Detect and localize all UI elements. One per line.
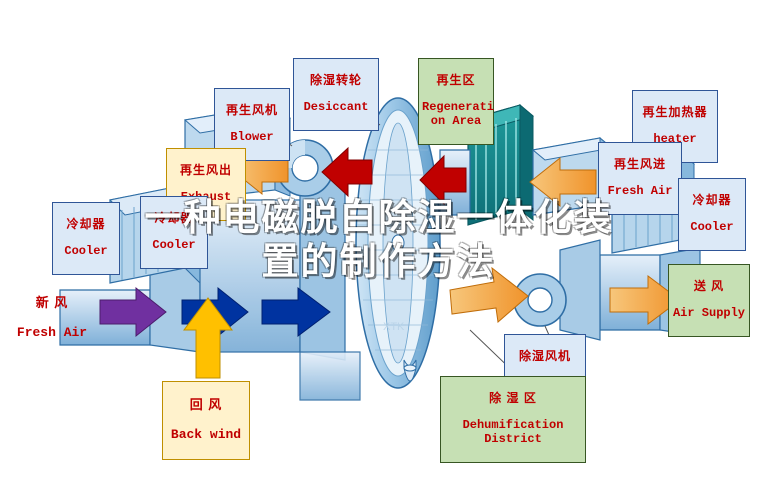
label-back-wind-en: Back wind [166,428,246,443]
label-air-supply-en: Air Supply [672,307,746,321]
label-dehumidification-district: 除 湿 区 Dehumification District [440,376,586,463]
label-cooler-left-en: Cooler [56,245,116,259]
label-regen-exhaust-cn: 再生风出 [170,164,242,178]
label-fresh-air: 新 风 Fresh Air [6,280,98,357]
label-cooler-left-cn: 冷却器 [56,218,116,232]
label-regeneration-area: 再生区 Regenerati on Area [418,58,494,145]
label-regen-blower-cn: 再生风机 [218,104,286,118]
label-cooler-mid-cn: 冷却器 [144,212,204,226]
label-cooler-right-cn: 冷却器 [682,194,742,208]
svg-text:XTK: XTK [383,321,405,333]
label-cooler-mid-en: Cooler [144,239,204,253]
label-desiccant-wheel-cn: 除湿转轮 [297,74,375,88]
label-regen-blower-en: Blower [218,131,286,145]
label-regen-fresh-air: 再生风进 Fresh Air [598,142,682,215]
label-dehum-district-en: Dehumification District [444,419,582,447]
label-cooler-right-en: Cooler [682,221,742,235]
label-cooler-left: 冷却器 Cooler [52,202,120,275]
label-fresh-air-cn: 新 风 [9,296,95,311]
label-back-wind: 回 风 Back wind [162,381,250,460]
label-desiccant-wheel: 除湿转轮 Desiccant [293,58,379,131]
label-regeneration-area-cn: 再生区 [422,74,490,88]
label-cooler-right: 冷却器 Cooler [678,178,746,251]
label-fresh-air-en: Fresh Air [9,326,95,341]
label-back-wind-cn: 回 风 [166,398,246,413]
label-regen-heater-cn: 再生加热器 [636,106,714,120]
label-regeneration-area-en: Regenerati on Area [422,101,490,129]
label-regen-fresh-air-en: Fresh Air [602,185,678,199]
label-dehum-blower-cn: 除湿风机 [508,350,582,364]
diagram-canvas: XTK 除湿转轮 Desiccant 再生区 Regenerati on Are… [0,0,757,488]
label-air-supply: 送 风 Air Supply [668,264,750,337]
label-desiccant-wheel-en: Desiccant [297,101,375,115]
label-cooler-mid: 冷却器 Cooler [140,196,208,269]
label-regen-fresh-air-cn: 再生风进 [602,158,678,172]
label-air-supply-cn: 送 风 [672,280,746,294]
label-dehum-district-cn: 除 湿 区 [444,392,582,406]
